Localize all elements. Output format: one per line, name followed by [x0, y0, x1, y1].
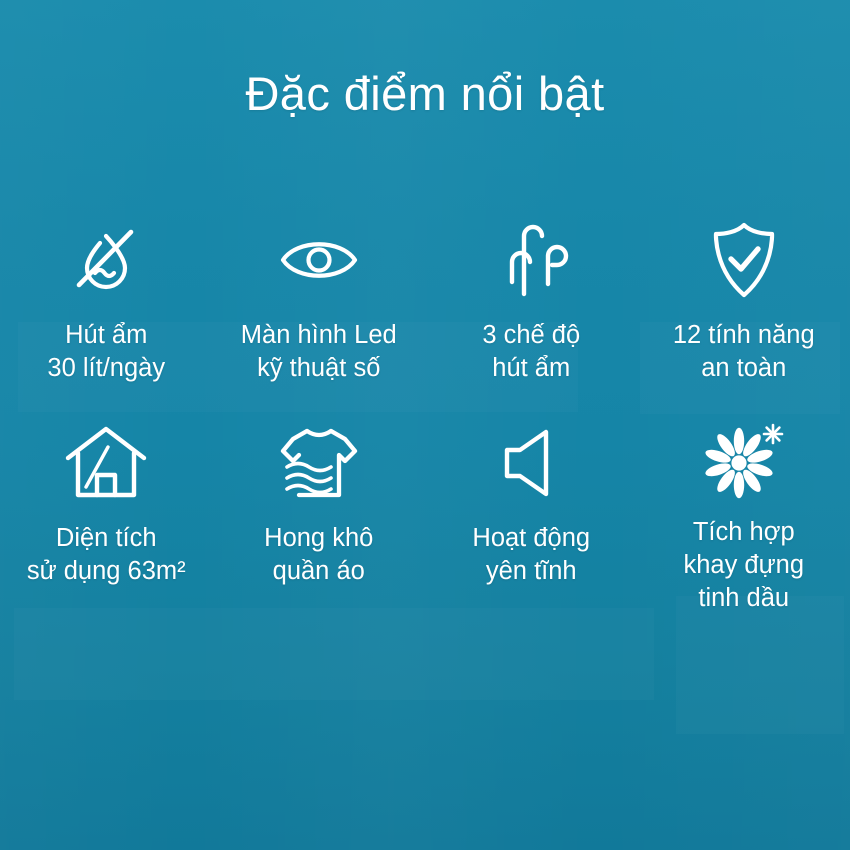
- background-band: [14, 608, 654, 700]
- background-band: [676, 596, 844, 734]
- feature-label: Hong khô quần áo: [264, 522, 373, 588]
- feature-label: Hút ẩm 30 lít/ngày: [47, 319, 165, 385]
- eye-display-icon: [273, 218, 365, 302]
- dehumidify-drop-slash-icon: [60, 218, 152, 302]
- feature-item-aroma-tray: Tích hợp khay đựng tinh dầu: [638, 401, 850, 597]
- three-modes-airflow-icon: [485, 218, 577, 302]
- feature-highlights-panel: Đặc điểm nổi bật Hút ẩm 30 lít/ngày: [0, 0, 850, 850]
- feature-label: Diện tích sử dụng 63m²: [27, 522, 186, 588]
- feature-label: 12 tính năng an toàn: [673, 319, 815, 385]
- feature-item-led-display: Màn hình Led kỹ thuật số: [213, 196, 426, 392]
- feature-grid: Hút ẩm 30 lít/ngày Màn hình Led kỹ thuật…: [0, 196, 850, 597]
- house-icon: [60, 421, 152, 505]
- feature-item-dehumidify: Hút ẩm 30 lít/ngày: [0, 196, 213, 392]
- flower-aroma-icon: [698, 421, 790, 499]
- shield-check-icon: [698, 218, 790, 302]
- feature-item-three-modes: 3 chế độ hút ẩm: [425, 196, 638, 392]
- feature-label: Màn hình Led kỹ thuật số: [241, 319, 397, 385]
- feature-item-coverage-area: Diện tích sử dụng 63m²: [0, 401, 213, 597]
- feature-label: Hoạt động yên tĩnh: [472, 522, 590, 588]
- speaker-quiet-icon: [485, 421, 577, 505]
- feature-label: Tích hợp khay đựng tinh dầu: [683, 516, 804, 615]
- feature-item-clothes-drying: Hong khô quần áo: [213, 401, 426, 597]
- page-title: Đặc điểm nổi bật: [0, 66, 850, 122]
- tshirt-dry-icon: [273, 421, 365, 505]
- feature-item-safety: 12 tính năng an toàn: [638, 196, 850, 392]
- feature-item-quiet-operation: Hoạt động yên tĩnh: [425, 401, 638, 597]
- feature-label: 3 chế độ hút ẩm: [482, 319, 580, 385]
